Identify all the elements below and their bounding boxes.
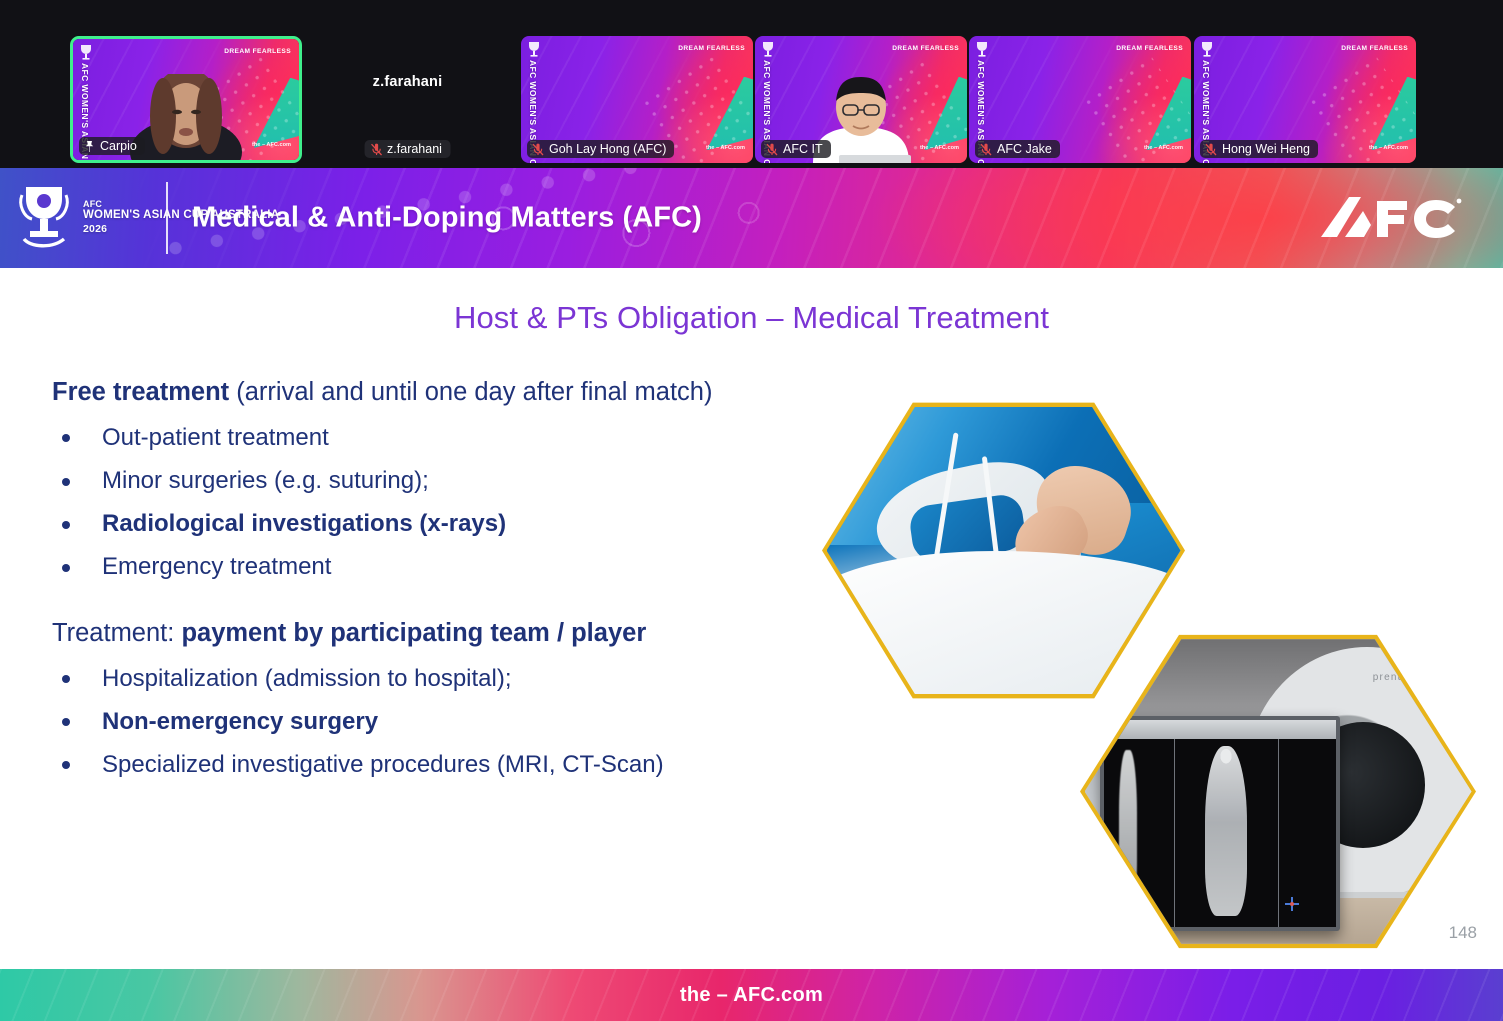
monitor-toolbar-region (1104, 720, 1336, 739)
list-item: Non-emergency surgery (52, 706, 792, 737)
mri-photo: prenuvo (1085, 635, 1472, 949)
mic-muted-icon (980, 143, 992, 156)
trophy-icon (760, 41, 776, 59)
list-item: Out-patient treatment (52, 422, 792, 453)
hex-image-hospital (822, 398, 1185, 703)
slide-header-bar: AFC WOMEN'S ASIAN CUP AUSTRALIA 2026 Med… (0, 168, 1503, 268)
slide-title: Host & PTs Obligation – Medical Treatmen… (0, 300, 1503, 336)
slide-header-title: Medical & Anti-Doping Matters (AFC) (192, 202, 702, 235)
list-item: Minor surgeries (e.g. suturing); (52, 465, 792, 496)
list-item: Hospitalization (admission to hospital); (52, 663, 792, 694)
trophy-icon (1199, 41, 1215, 59)
tile-url: the – AFC.com (1369, 145, 1408, 151)
tile-tagline: DREAM FEARLESS (1341, 45, 1408, 52)
crosshair-icon (1285, 897, 1299, 911)
tile-tagline: DREAM FEARLESS (224, 48, 291, 55)
tile-nameplate-afc-jake: AFC Jake (975, 140, 1060, 158)
scanner-brand-label: prenuvo (1373, 672, 1418, 683)
scan-pane-sagittal (1104, 739, 1175, 928)
header-divider (166, 182, 168, 254)
tile-url: the – AFC.com (1144, 145, 1183, 151)
tile-tagline: DREAM FEARLESS (678, 45, 745, 52)
tile-name-label: Goh Lay Hong (AFC) (549, 142, 666, 156)
trophy-icon (526, 41, 542, 59)
tile-nameplate-hong-wei-heng: Hong Wei Heng (1200, 140, 1318, 158)
tile-tagline: DREAM FEARLESS (1116, 45, 1183, 52)
block2-bullet-list: Hospitalization (admission to hospital);… (52, 663, 792, 781)
tile-nameplate-afc-it: AFC IT (761, 140, 831, 158)
mic-muted-icon (1205, 143, 1217, 156)
slide-footer-bar: the – AFC.com (0, 969, 1503, 1021)
mic-muted-icon (532, 143, 544, 156)
zoom-video-filmstrip: AFC WOMEN'S ASIAN CUP AUSTRALIA 2026 DRE… (0, 0, 1503, 168)
audio-only-tile-zfarahani[interactable]: z.farahani z.farahani (305, 36, 510, 163)
tile-name-label: AFC IT (783, 142, 823, 156)
afc-brand-mark (1315, 191, 1463, 245)
hex-image-mri-inner: prenuvo (1085, 635, 1472, 949)
list-item: Radiological investigations (x-rays) (52, 508, 792, 539)
tile-name-label: Hong Wei Heng (1222, 142, 1310, 156)
pin-icon (84, 140, 95, 153)
tile-url: the – AFC.com (706, 145, 745, 151)
block1-lead-bold: Free treatment (52, 378, 229, 406)
block2-lead-bold: payment by participating team / player (181, 619, 646, 647)
tile-nameplate-carpio: Carpio (79, 137, 145, 155)
mic-muted-icon (766, 143, 778, 156)
crosshair-icon (1134, 897, 1148, 911)
photo-bedsheet-region (827, 551, 1181, 699)
scan-spine-image (1119, 750, 1137, 908)
photo-scan-monitor (1100, 716, 1340, 931)
tile-name-label: Carpio (100, 139, 137, 153)
list-item: Specialized investigative procedures (MR… (52, 749, 792, 780)
tile-tagline: DREAM FEARLESS (892, 45, 959, 52)
trophy-icon (974, 41, 990, 59)
scan-body-image (1205, 746, 1247, 916)
tile-name-label: z.farahani (387, 142, 442, 156)
logo-line-womens: WOMEN'S (83, 209, 140, 221)
video-tile-afc-jake[interactable]: AFC WOMEN'S ASIAN CUP AUSTRALIA 2026 DRE… (969, 36, 1191, 163)
trophy-icon (78, 44, 94, 62)
trophy-logo-icon (14, 181, 74, 253)
block1-lead: Free treatment (arrival and until one da… (52, 376, 792, 410)
afc-logo-icon (1315, 191, 1463, 245)
list-item: Emergency treatment (52, 551, 792, 582)
tile-nameplate-goh-lay-hong: Goh Lay Hong (AFC) (527, 140, 674, 158)
hex-image-hospital-inner (827, 403, 1181, 699)
tile-nameplate-zfarahani: z.farahani (364, 140, 451, 158)
slide-body-content: Free treatment (arrival and until one da… (52, 376, 792, 792)
audio-only-display-name: z.farahani (373, 74, 443, 90)
mic-muted-icon (370, 143, 382, 156)
block1-lead-rest: (arrival and until one day after final m… (229, 378, 712, 406)
video-tile-carpio[interactable]: AFC WOMEN'S ASIAN CUP AUSTRALIA 2026 DRE… (70, 36, 302, 163)
tile-name-label: AFC Jake (997, 142, 1052, 156)
block1-bullet-list: Out-patient treatment Minor surgeries (e… (52, 422, 792, 583)
video-tile-afc-it[interactable]: AFC WOMEN'S ASIAN CUP AUSTRALIA 2026 DRE… (755, 36, 967, 163)
slide-page-number: 148 (1449, 923, 1477, 943)
footer-url-label: the – AFC.com (680, 984, 823, 1007)
block2-lead-normal: Treatment: (52, 619, 181, 647)
video-tile-goh-lay-hong[interactable]: AFC WOMEN'S ASIAN CUP AUSTRALIA 2026 DRE… (521, 36, 753, 163)
block2-lead: Treatment: payment by participating team… (52, 617, 792, 651)
scan-pane-coronal (1174, 739, 1279, 928)
video-tile-hong-wei-heng[interactable]: AFC WOMEN'S ASIAN CUP AUSTRALIA 2026 DRE… (1194, 36, 1416, 163)
shared-screen-slide: AFC WOMEN'S ASIAN CUP AUSTRALIA 2026 Med… (0, 168, 1503, 1021)
hex-image-mri: prenuvo (1080, 630, 1476, 953)
hospital-photo (827, 403, 1181, 699)
